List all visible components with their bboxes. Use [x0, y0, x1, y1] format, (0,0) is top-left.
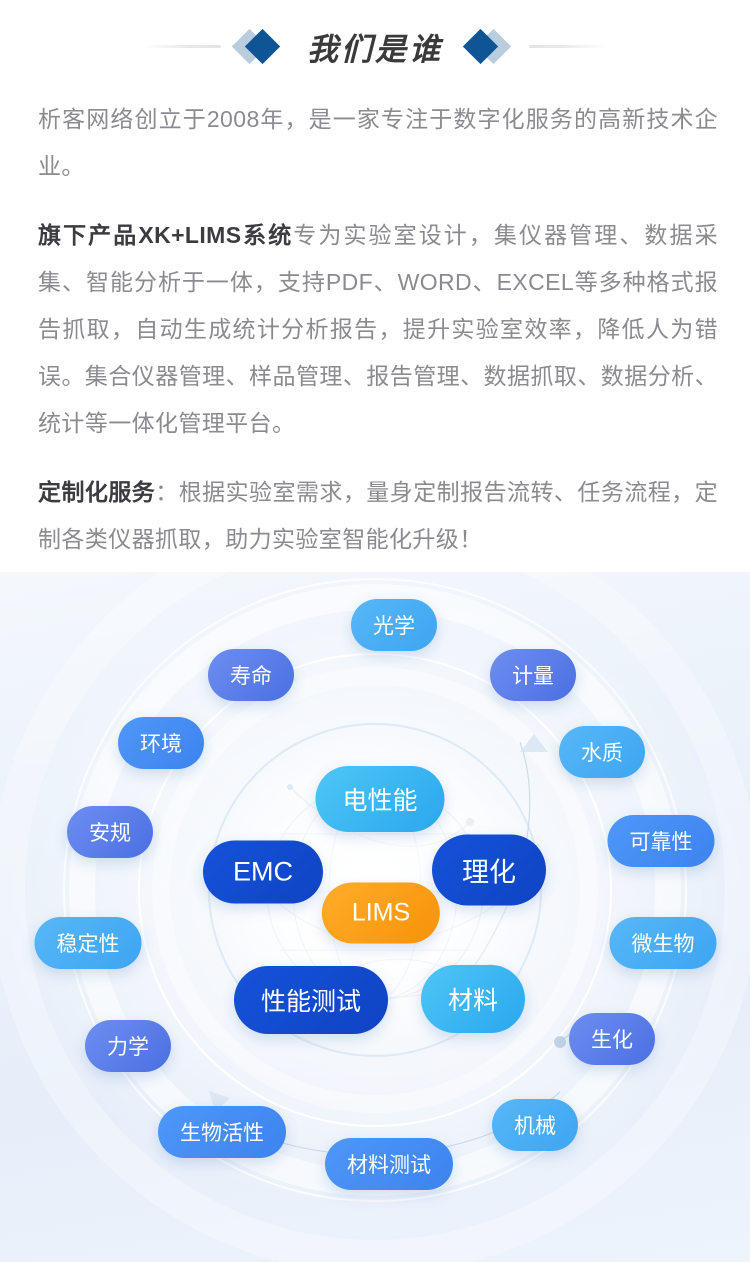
capability-tag[interactable]: 环境: [118, 717, 204, 769]
page-root: 我们是谁 析客网络创立于2008年，是一家专注于数字化服务的高新技术企业。 旗下…: [0, 0, 750, 1262]
capability-tag[interactable]: 材料测试: [325, 1138, 453, 1190]
capability-tag[interactable]: LIMS: [322, 883, 440, 944]
capability-tag[interactable]: 光学: [351, 599, 437, 651]
capability-tag[interactable]: 稳定性: [35, 917, 142, 969]
capability-tag[interactable]: EMC: [203, 841, 323, 904]
capability-tag[interactable]: 计量: [490, 649, 576, 701]
capability-tag[interactable]: 材料: [421, 965, 525, 1033]
paragraph-1: 析客网络创立于2008年，是一家专注于数字化服务的高新技术企业。: [38, 96, 718, 190]
paragraph-2: 旗下产品XK+LIMS系统专为实验室设计，集仪器管理、数据采集、智能分析于一体，…: [38, 212, 718, 447]
paragraph-3-lead: 定制化服务: [38, 479, 155, 505]
paragraph-3: 定制化服务：根据实验室需求，量身定制报告流转、任务流程，定制各类仪器抓取，助力实…: [38, 469, 718, 563]
header-divider-left: [143, 45, 221, 48]
diamond-pair-icon-right: [457, 26, 519, 66]
paragraph-2-lead: 旗下产品XK+LIMS系统: [38, 222, 293, 248]
capability-tag[interactable]: 力学: [85, 1020, 171, 1072]
capability-tag[interactable]: 生物活性: [158, 1106, 286, 1158]
capability-tag[interactable]: 微生物: [610, 917, 717, 969]
paragraph-2-text: 专为实验室设计，集仪器管理、数据采集、智能分析于一体，支持PDF、WORD、EX…: [38, 222, 718, 436]
page-title: 我们是谁: [303, 24, 447, 69]
capability-tag[interactable]: 电性能: [315, 766, 444, 832]
capability-tag[interactable]: 生化: [569, 1013, 655, 1065]
capability-tag[interactable]: 水质: [559, 726, 645, 778]
capability-tag[interactable]: 可靠性: [608, 815, 715, 867]
about-copy: 析客网络创立于2008年，是一家专注于数字化服务的高新技术企业。 旗下产品XK+…: [38, 96, 718, 585]
diamond-pair-icon-left: [231, 26, 293, 66]
capability-tag[interactable]: 理化: [432, 835, 546, 906]
header-divider-right: [529, 45, 607, 48]
capability-tag[interactable]: 安规: [67, 806, 153, 858]
section-header: 我们是谁: [0, 0, 750, 92]
capability-tag[interactable]: 机械: [492, 1099, 578, 1151]
capability-tag[interactable]: 性能测试: [234, 966, 388, 1034]
capability-tag[interactable]: 寿命: [208, 649, 294, 701]
paragraph-1-text: 析客网络创立于2008年，是一家专注于数字化服务的高新技术企业。: [38, 106, 718, 179]
capability-tag-cloud: 光学寿命计量环境水质电性能安规可靠性EMC理化LIMS稳定性微生物性能测试材料生…: [0, 572, 750, 1262]
